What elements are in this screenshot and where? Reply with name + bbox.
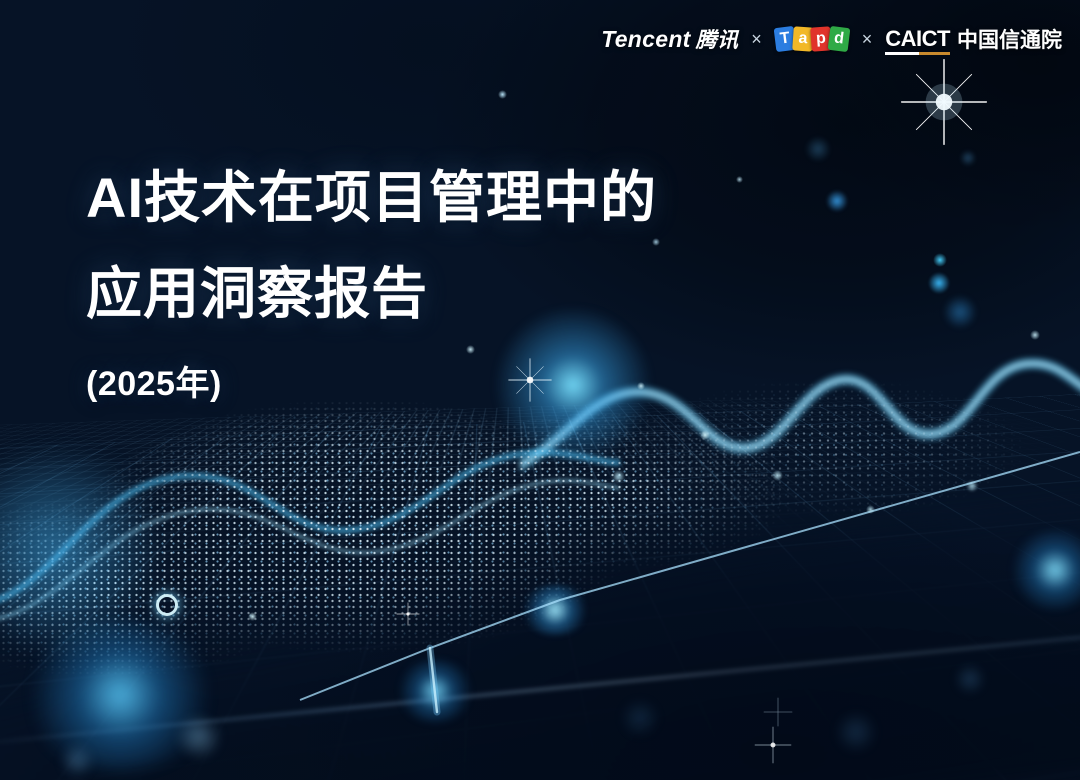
tencent-logo[interactable]: Tencent 腾讯: [601, 24, 738, 54]
cover-title-line-2: 应用洞察报告: [86, 266, 657, 322]
caict-logo-cn: 中国信通院: [957, 24, 1062, 54]
ring-node: [156, 594, 178, 616]
bokeh-dot: [943, 295, 977, 329]
cover-subtitle: (2025年): [86, 356, 657, 405]
tencent-logo-latin: Tencent: [601, 26, 690, 53]
caict-mark: CAICT: [885, 26, 950, 52]
tencent-logo-cn: 腾讯: [696, 24, 739, 54]
particle-wave-mesh: [0, 400, 780, 700]
bokeh-dot: [498, 90, 507, 99]
partner-logo-bar: Tencent 腾讯 × T a p d × CAICT 中国信通院: [601, 22, 1062, 56]
caict-underline: [885, 52, 950, 55]
tapd-logo[interactable]: T a p d: [775, 25, 849, 53]
cover-title-line-1: AI技术在项目管理中的: [86, 170, 657, 226]
logo-separator-2: ×: [862, 30, 873, 48]
bokeh-dot: [826, 190, 848, 212]
bokeh-dot: [960, 150, 976, 166]
report-cover: Tencent 腾讯 × T a p d × CAICT 中国信通院 AI技术在…: [0, 0, 1080, 780]
caict-letters: CAICT: [885, 26, 950, 51]
caict-logo[interactable]: CAICT 中国信通院: [885, 24, 1062, 54]
tapd-tile-d: d: [827, 26, 850, 52]
bokeh-dot: [736, 176, 743, 183]
bokeh-dot: [805, 136, 831, 162]
logo-separator-1: ×: [751, 30, 762, 48]
cover-title-block: AI技术在项目管理中的 应用洞察报告 (2025年): [86, 170, 657, 405]
starburst-icon: [898, 56, 990, 148]
bokeh-dot: [933, 253, 947, 267]
bokeh-dot: [928, 272, 950, 294]
